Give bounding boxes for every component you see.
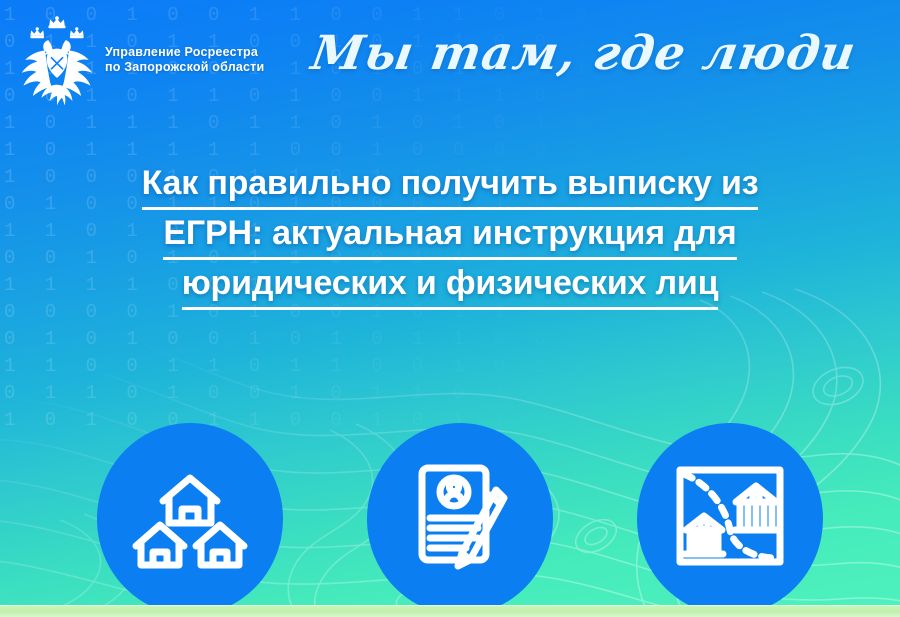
icon-row [0,420,900,617]
bottom-accent-strip [0,605,900,617]
banner-header: Управление Росреестра по Запорожской обл… [0,0,900,120]
headline-line-3: юридических и физических лиц [50,260,850,310]
rosreestr-egrn-banner: 1 0 0 1 0 0 1 1 0 0 1 1 0 1 0 1 0 0 1 1 … [0,0,900,617]
headline-line-2: ЕГРН: актуальная инструкция для [50,210,850,260]
three-houses-icon [97,423,283,615]
org-name-line2: по Запорожской области [105,60,264,75]
cadastral-map-buildings-icon [637,423,823,615]
organization-name: Управление Росреестра по Запорожской обл… [105,45,264,75]
page-title: Как правильно получить выписку из ЕГРН: … [50,160,850,310]
slogan-text: Мы там, где люди [308,26,860,81]
org-name-line1: Управление Росреестра [105,45,264,60]
document-person-pencil-icon [367,423,553,615]
rosreestr-eagle-emblem-icon [14,16,100,108]
headline-line-1: Как правильно получить выписку из [50,160,850,210]
